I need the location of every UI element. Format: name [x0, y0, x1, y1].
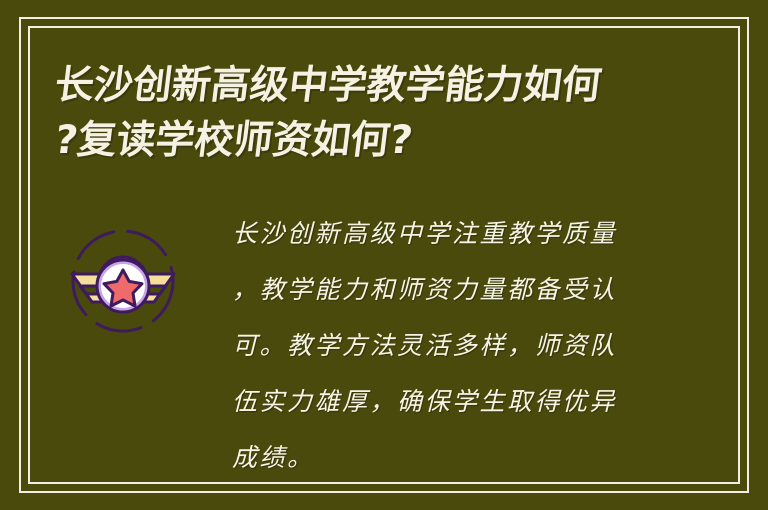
body-line-5: 成绩。: [232, 430, 656, 486]
body-paragraph: 长沙创新高级中学注重教学质量 ，教学能力和师资力量都备受认 可。教学方法灵活多样…: [232, 206, 656, 486]
body-line-3: 可。教学方法灵活多样，师资队: [232, 318, 656, 374]
body-line-2: ，教学能力和师资力量都备受认: [232, 262, 656, 318]
title-line-2: ?复读学校师资如何?: [52, 113, 699, 168]
title-line-1: 长沙创新高级中学教学能力如何: [52, 58, 699, 113]
body-line-4: 伍实力雄厚，确保学生取得优异: [232, 374, 656, 430]
winged-star-badge-icon: [66, 226, 180, 336]
poster-canvas: 长沙创新高级中学教学能力如何 ?复读学校师资如何? 长沙创新高级中学注重教学质量…: [0, 0, 768, 510]
page-title: 长沙创新高级中学教学能力如何 ?复读学校师资如何?: [55, 58, 695, 168]
body-line-1: 长沙创新高级中学注重教学质量: [232, 206, 656, 262]
